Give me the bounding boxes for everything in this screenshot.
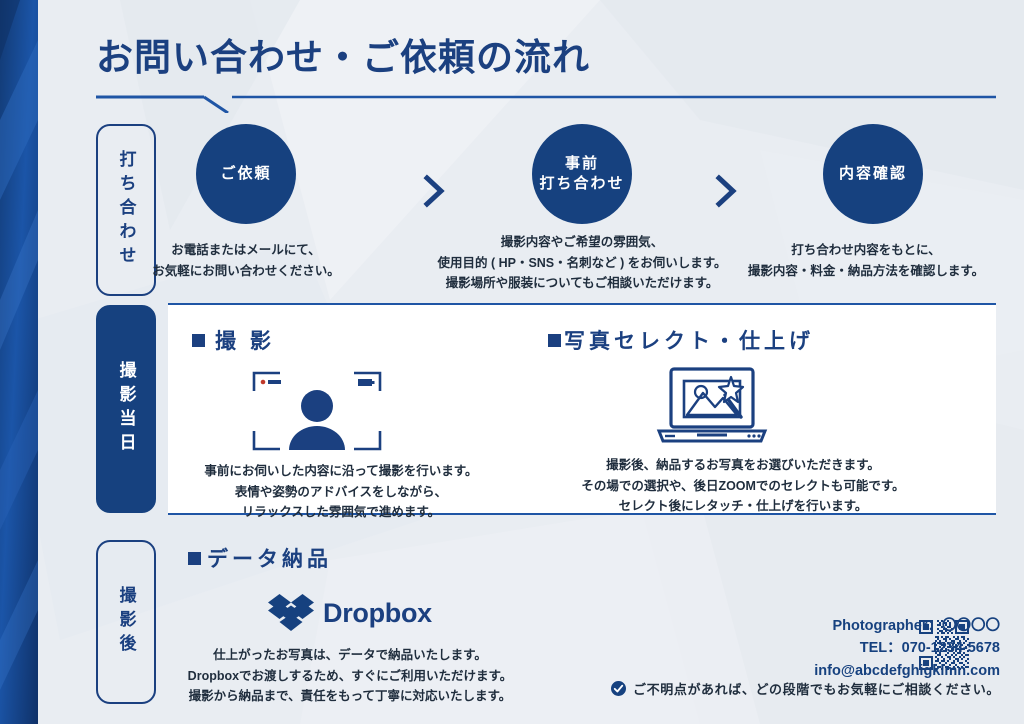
stage-label-text: 撮影当日 [118,361,135,457]
check-circle-icon [611,681,626,696]
square-bullet-icon [188,552,201,565]
stage-label-satsuei-go: 撮影後 [96,540,156,704]
square-bullet-icon [548,334,561,347]
step-circle-jizen-uchiawase[interactable]: 事前 打ち合わせ [532,124,632,224]
square-bullet-icon [192,334,205,347]
section-heading-satsuei: 撮 影 [192,325,275,355]
step-caption-naiyou-kakunin: 打ち合わせ内容をもとに、 撮影内容・料金・納品方法を確認します。 [736,240,996,281]
chevron-right-icon [421,174,447,208]
stage-row-uchiawase: ご依頼 事前 打ち合わせ 内容確認 お電話またはメールにて、 お気軽にお問い合わ… [96,124,996,296]
stage-label-text: 撮影後 [118,586,135,658]
step-circle-label: 内容確認 [839,164,907,184]
dropbox-lockup: Dropbox [268,592,432,634]
step-circle-naiyou-kakunin[interactable]: 内容確認 [823,124,923,224]
dropbox-wordmark: Dropbox [323,598,432,629]
step-caption-gorai: お電話またはメールにて、 お気軽にお問い合わせください。 [126,240,366,281]
stage-label-satsuei-toujitsu: 撮影当日 [96,305,156,513]
section-heading-text: 写真セレクト・仕上げ [564,325,814,355]
page-title: お問い合わせ・ご依頼の流れ [96,38,996,79]
laptop-photo-edit-icon [653,365,771,449]
dropbox-icon [268,592,314,634]
section-caption-data-nouhin: 仕上がったお写真は、データで納品いたします。 Dropboxでお渡しするため、す… [180,645,520,707]
step-circle-line2: 打ち合わせ [539,175,624,192]
step-circle-label: ご依頼 [220,164,271,184]
step-circle-label: 事前 打ち合わせ [539,154,624,195]
contact-note-text: ご不明点があれば、どの段階でもお気軽にご相談ください。 [633,679,1000,698]
stage-row-satsuei-toujitsu: 撮 影 事前にお伺いした内容に沿って撮影を行います。 表情や姿勢のアドバイスをし… [168,303,996,515]
step-circle-line1: 事前 [565,155,599,172]
contact-note: ご不明点があれば、どの段階でもお気軽にご相談ください。 [560,679,1000,698]
section-caption-shashin-select: 撮影後、納品するお写真をお選びいただきます。 その場での選択や、後日ZOOMでの… [538,455,948,517]
title-underline [96,91,996,113]
section-heading-data-nouhin: データ納品 [188,543,332,573]
section-caption-satsuei: 事前にお伺いした内容に沿って撮影を行います。 表情や姿勢のアドバイスをしながら、… [176,461,506,523]
card-top-rule [168,303,996,305]
qr-code-icon[interactable] [919,620,969,670]
section-heading-text: データ納品 [207,543,332,573]
page-header: お問い合わせ・ご依頼の流れ [96,38,996,79]
chevron-right-icon [713,174,739,208]
portrait-viewfinder-icon [250,369,384,453]
section-heading-text: 撮 影 [215,325,275,355]
step-circle-gorai[interactable]: ご依頼 [196,124,296,224]
step-caption-jizen-uchiawase: 撮影内容やご希望の雰囲気、 使用目的 ( HP・SNS・名刺など ) をお伺いし… [402,232,762,294]
section-heading-shashin-select: 写真セレクト・仕上げ [548,325,814,355]
